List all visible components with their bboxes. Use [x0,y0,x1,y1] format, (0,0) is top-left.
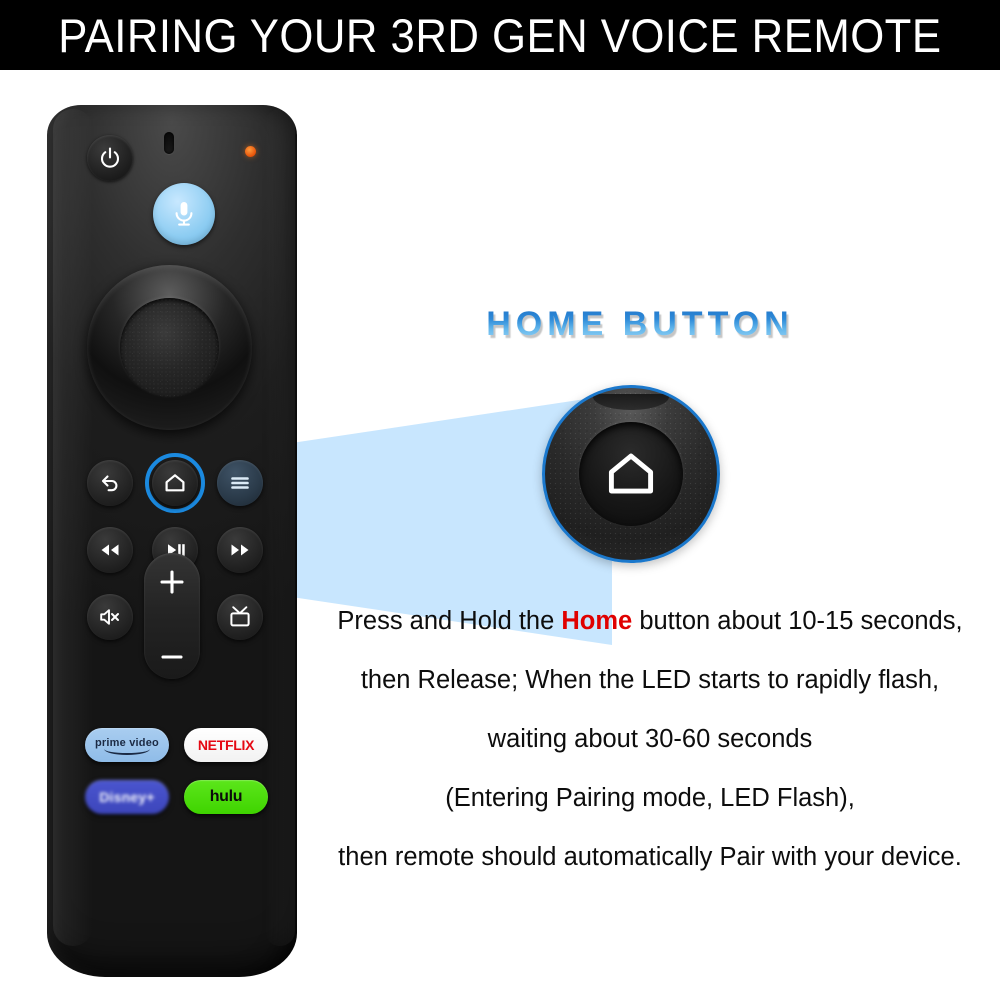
app-button-hulu[interactable]: hulu [184,780,268,814]
instruction-line-1: Press and Hold the Home button about 10-… [300,592,1000,651]
instruction-1-highlight: Home [561,607,632,635]
home-button-face[interactable] [152,460,198,506]
rewind-button[interactable] [87,527,133,573]
header-bar: PAIRING YOUR 3RD GEN VOICE REMOTE [0,0,1000,70]
instruction-line-4: (Entering Pairing mode, LED Flash), [300,769,1000,828]
app-button-disney-plus[interactable]: Disney+ [85,780,169,814]
instructions-block: Press and Hold the Home button about 10-… [300,592,1000,887]
menu-button[interactable] [217,460,263,506]
disney-plus-label: Disney+ [99,789,155,805]
tv-icon [227,604,253,630]
netflix-label: NETFLIX [198,737,254,753]
home-icon [163,471,187,495]
back-icon [98,471,122,495]
microphone-hole-icon [164,132,174,154]
instruction-1-pre: Press and Hold the [337,607,561,635]
callout-title: HOME BUTTON [470,303,810,345]
instruction-line-5: then remote should automatically Pair wi… [300,828,1000,887]
instruction-line-2: then Release; When the LED starts to rap… [300,651,1000,710]
instruction-1-post: button about 10-15 seconds, [632,607,962,635]
voice-remote: prime video NETFLIX Disney+ hulu [47,105,297,977]
remote-highlight-left [53,109,93,946]
volume-rocker[interactable] [144,553,200,679]
volume-down-icon[interactable] [157,651,187,663]
led-indicator [245,146,256,157]
prime-smile-icon [104,744,150,755]
rewind-icon [98,538,122,562]
voice-button[interactable] [153,183,215,245]
page-root: PAIRING YOUR 3RD GEN VOICE REMOTE [0,0,1000,1000]
app-button-prime-video[interactable]: prime video [85,728,169,762]
home-icon [603,446,659,502]
hulu-label: hulu [210,788,243,806]
mute-button[interactable] [87,594,133,640]
navigation-ring[interactable] [87,265,252,430]
volume-up-icon[interactable] [157,567,187,597]
fast-forward-icon [228,538,252,562]
app-button-netflix[interactable]: NETFLIX [184,728,268,762]
magnified-home-button [542,385,720,563]
power-button[interactable] [87,135,133,181]
power-icon [98,146,122,170]
remote-highlight-right [265,109,295,946]
magnified-notch [593,394,669,410]
mute-icon [98,605,122,629]
menu-icon [228,471,252,495]
home-button[interactable] [152,460,198,506]
tv-button[interactable] [217,594,263,640]
page-title: PAIRING YOUR 3RD GEN VOICE REMOTE [58,12,941,59]
select-button[interactable] [120,298,219,397]
microphone-icon [171,199,197,229]
instruction-line-3: waiting about 30-60 seconds [300,710,1000,769]
back-button[interactable] [87,460,133,506]
magnified-home-face [579,422,683,526]
fast-forward-button[interactable] [217,527,263,573]
